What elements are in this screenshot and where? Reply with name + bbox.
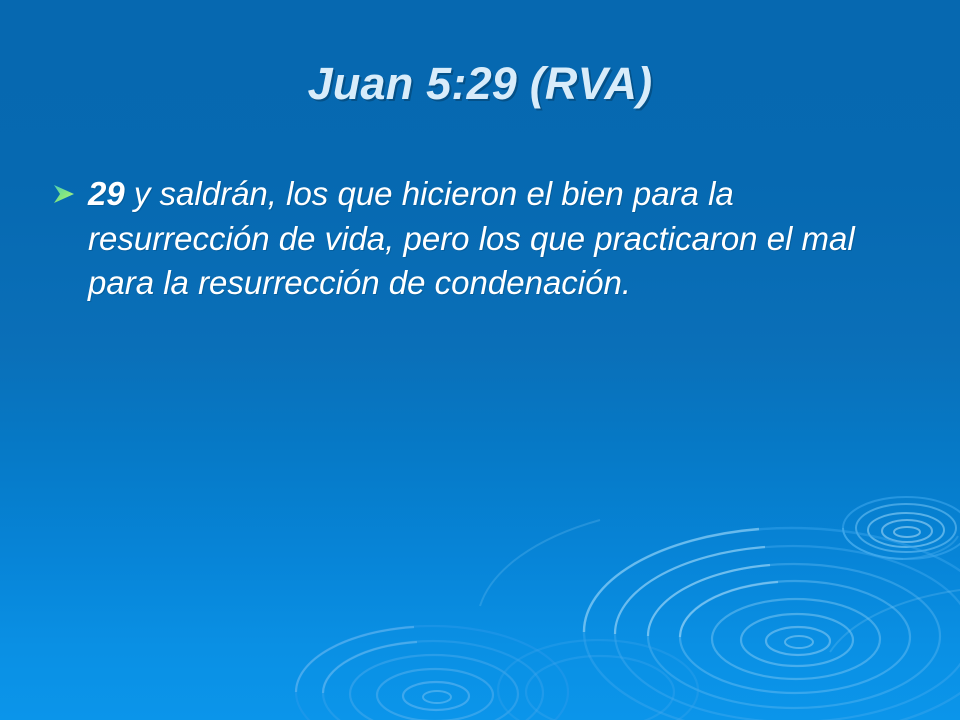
ripple-edge-left xyxy=(498,640,698,720)
slide-body: 29 y saldrán, los que hicieron el bien p… xyxy=(52,172,908,306)
ripple-medium-bottomleft xyxy=(296,626,568,720)
ripple-sweep-lines xyxy=(480,520,960,652)
ripple-small-topright xyxy=(843,497,960,559)
bullet-item: 29 y saldrán, los que hicieron el bien p… xyxy=(52,172,908,306)
bullet-text: 29 y saldrán, los que hicieron el bien p… xyxy=(88,172,908,306)
presentation-slide: Juan 5:29 (RVA) 29 y saldrán, los que hi… xyxy=(0,0,960,720)
arrow-bullet-icon xyxy=(52,172,88,205)
ripple-large-bottomright xyxy=(584,528,960,720)
verse-number: 29 xyxy=(88,175,125,212)
slide-title: Juan 5:29 (RVA) xyxy=(0,58,960,110)
verse-text: y saldrán, los que hicieron el bien para… xyxy=(88,175,855,301)
